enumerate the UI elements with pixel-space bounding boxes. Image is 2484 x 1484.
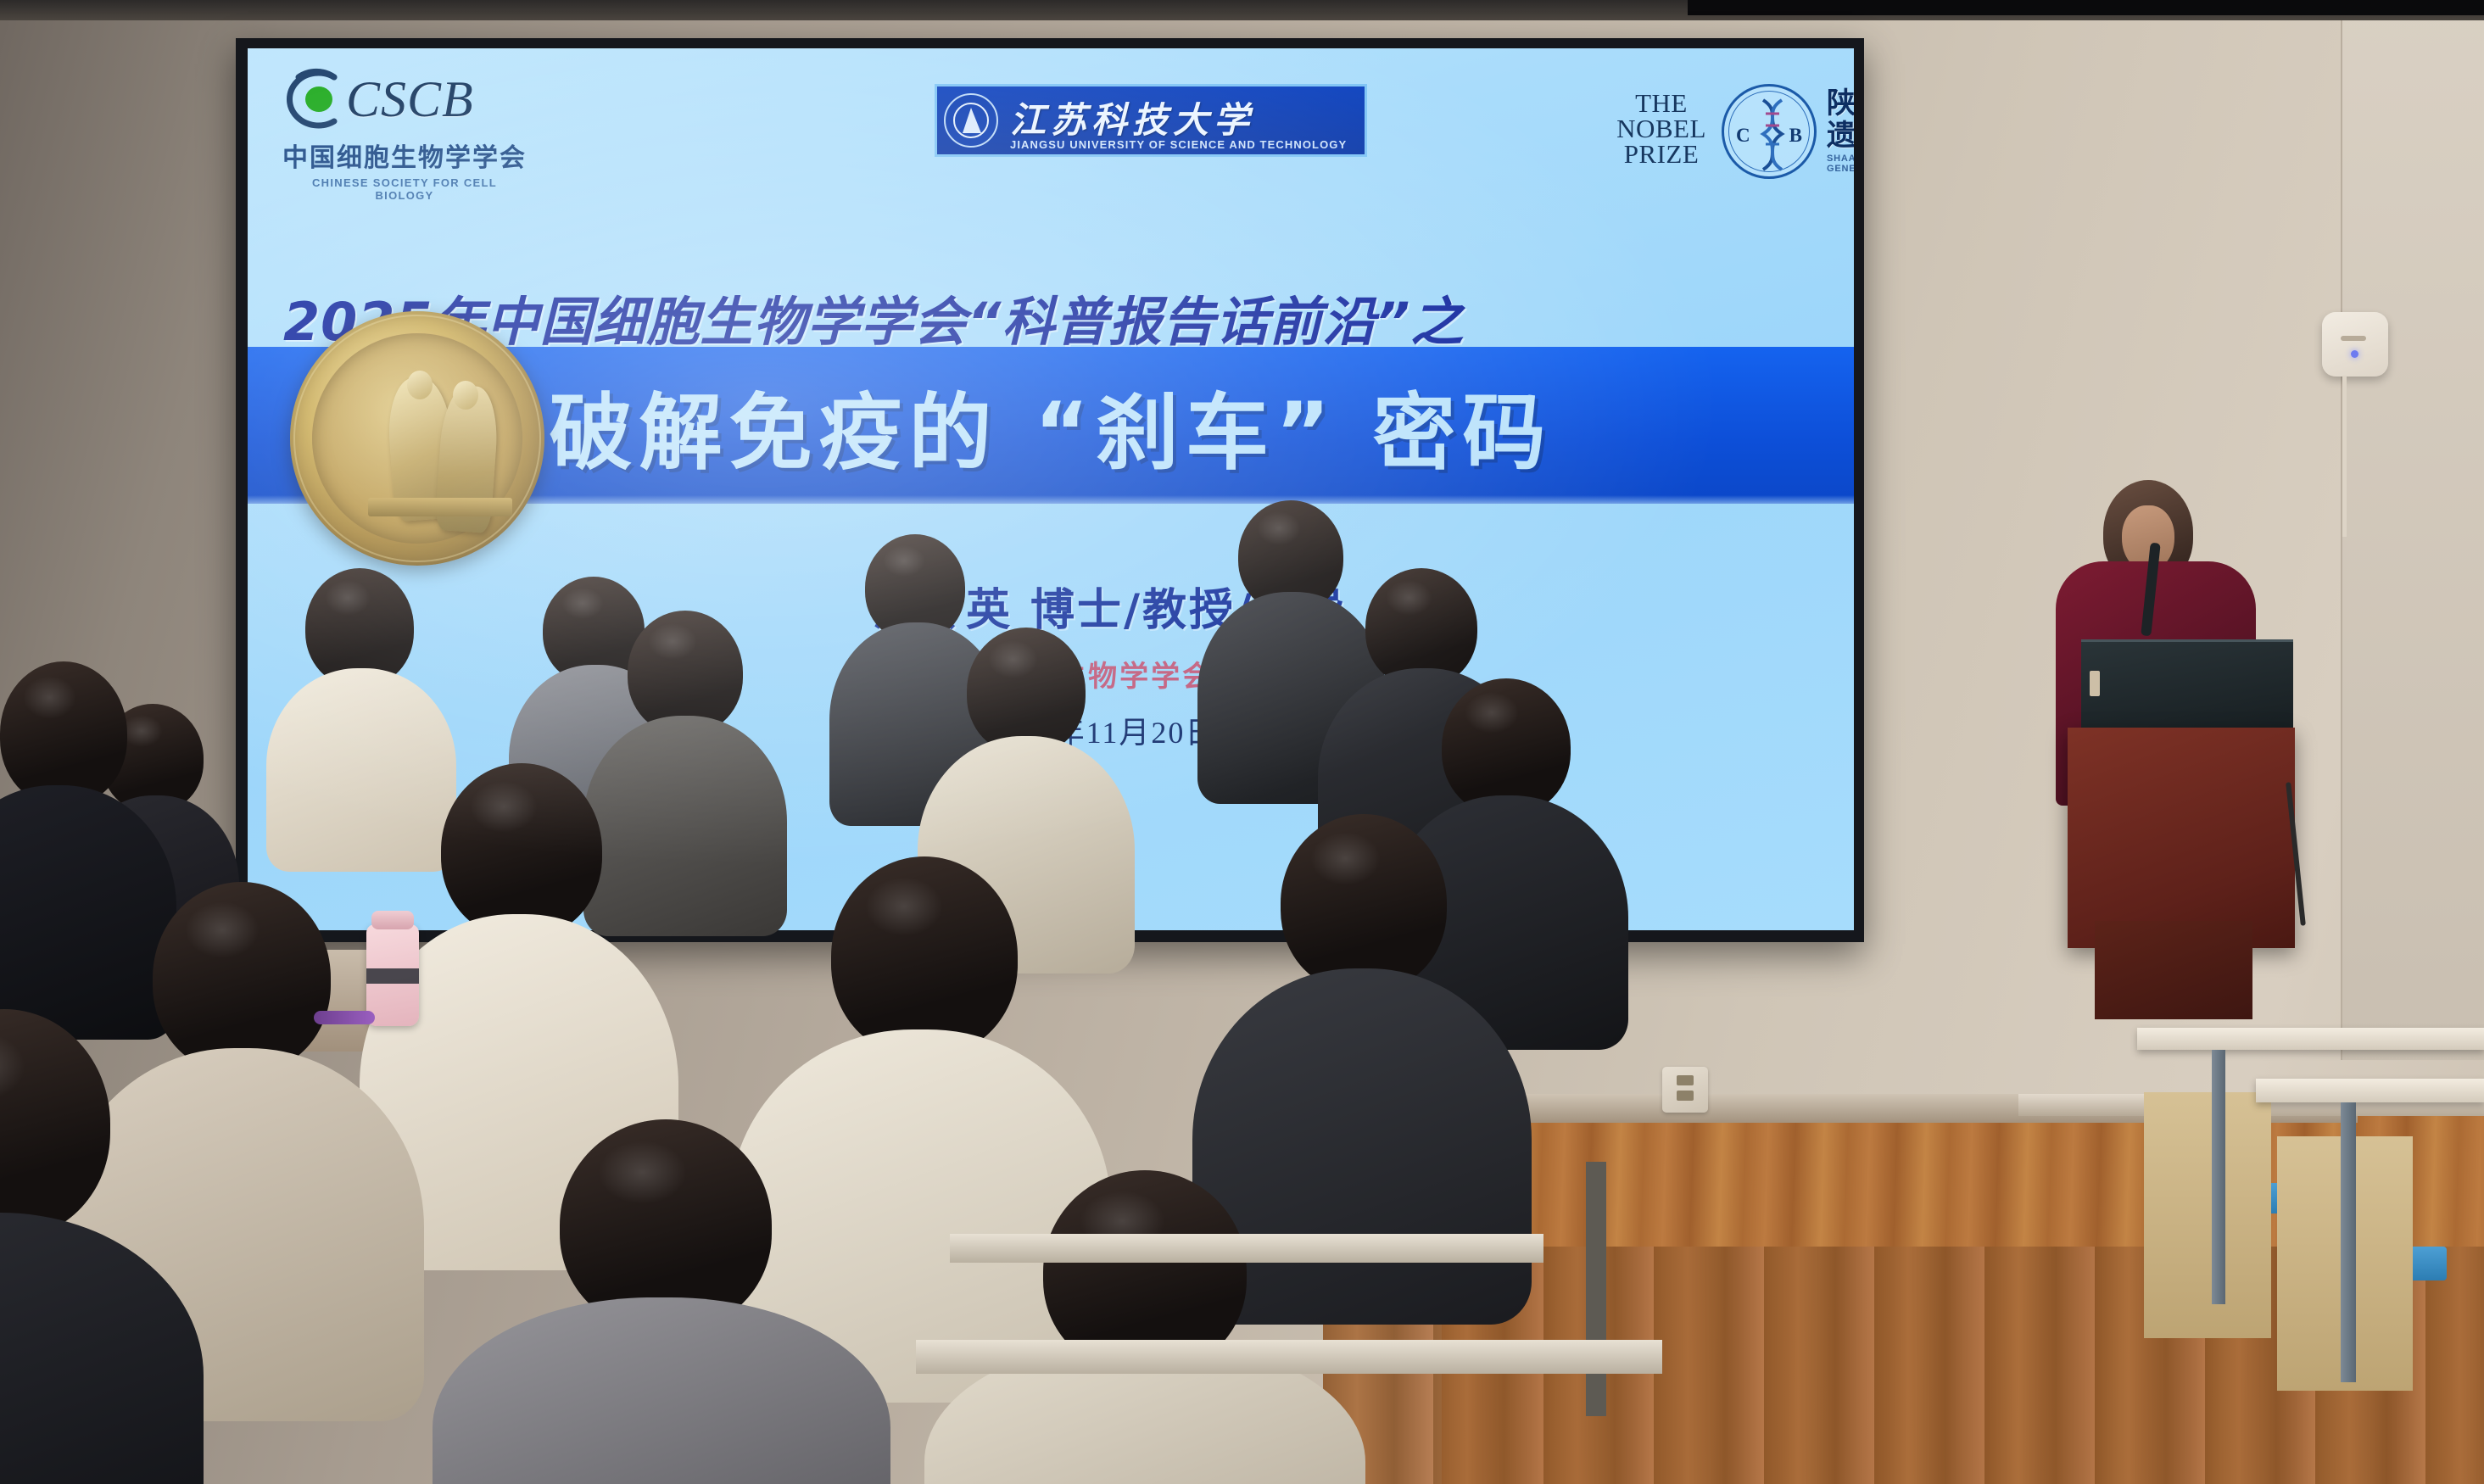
person-head: [831, 856, 1018, 1057]
hair-highlight: [0, 1032, 25, 1101]
wifi-cable: [2342, 376, 2347, 537]
person-head: [1281, 814, 1447, 992]
person-torso: [583, 716, 787, 936]
hair-highlight: [883, 545, 925, 577]
bottle-band: [366, 968, 419, 984]
wifi-access-point-icon: [2322, 312, 2388, 377]
bench-row-front: [916, 1340, 1662, 1374]
shaanxi-line-1: 陕西省: [1827, 87, 1854, 120]
medal-plinth: [368, 498, 512, 516]
person-torso: [266, 668, 456, 872]
pen: [314, 1011, 375, 1024]
person-head: [153, 882, 331, 1074]
hair-highlight: [1257, 511, 1301, 545]
tabletop-surface-front: [2256, 1079, 2484, 1102]
podium-base: [2095, 921, 2252, 1019]
hair-highlight: [1386, 580, 1432, 616]
dna-helix-icon: [1758, 98, 1787, 171]
hair-highlight: [1465, 692, 1519, 734]
medal-head-1: [407, 371, 433, 399]
shaanxi-genetics-logo: 陕西省 遗传学会 SHAANXI SOCIETY OF GENETICS: [1827, 87, 1854, 174]
laptop-port: [2090, 671, 2100, 696]
slide-title: 破解免疫的 “刹车” 密码: [549, 365, 1552, 486]
shaanxi-line-2: 遗传学会: [1827, 120, 1854, 152]
nobel-prize-wordmark: THE NOBEL PRIZE: [1598, 91, 1725, 167]
hair-highlight: [988, 640, 1038, 678]
hair-highlight: [648, 623, 696, 661]
podium: [2068, 728, 2295, 948]
nobel-medal-image: [290, 311, 544, 566]
cscb-mark: CSCB: [282, 64, 536, 135]
bench-leg-mid: [1586, 1162, 1606, 1416]
bottle-cap: [371, 911, 414, 929]
cscb-name-cn: 中国细胞生物学学会: [282, 137, 528, 174]
wifi-status-led: [2351, 350, 2358, 358]
hair-highlight: [865, 877, 943, 937]
hair-highlight: [1310, 832, 1380, 885]
cell-swirl-icon: [282, 67, 351, 131]
laptop: [2081, 639, 2293, 739]
slide-logo-row: CSCB 中国细胞生物学学会 CHINESE SOCIETY FOR CELL …: [248, 48, 1854, 201]
seal-letter-b: B: [1789, 125, 1802, 147]
table-top-front: [2256, 1079, 2484, 1102]
table-leg-rear-left: [2212, 1050, 2225, 1304]
person-head: [441, 763, 602, 938]
seal-letter-c: C: [1736, 125, 1750, 147]
hair-highlight: [598, 1141, 687, 1204]
jsust-seal-icon: [944, 93, 998, 148]
bench-row-mid: [950, 1234, 1543, 1263]
hair-highlight: [185, 901, 260, 959]
cscb-acronym: CSCB: [346, 70, 474, 129]
table-top-rear: [2137, 1028, 2484, 1050]
shaanxi-cell-biology-seal: C B: [1722, 84, 1817, 179]
jsust-name-cn: 江苏科技大学: [1010, 103, 1254, 138]
table-leg-front: [2341, 1102, 2356, 1382]
nobel-line-1: THE: [1598, 91, 1725, 116]
person-head: [0, 661, 127, 806]
hair-highlight: [23, 676, 76, 719]
cscb-name-en: CHINESE SOCIETY FOR CELL BIOLOGY: [282, 176, 528, 202]
water-bottle: [366, 924, 419, 1026]
medal-head-2: [453, 381, 478, 410]
hair-highlight: [470, 781, 538, 834]
nobel-line-3: PRIZE: [1598, 142, 1725, 167]
table-modesty-panel-rear: [2144, 1092, 2271, 1338]
ceiling-dark-panel: [1688, 0, 2484, 15]
right-wall-panel: [2341, 0, 2484, 1060]
jsust-name-en: JIANGSU UNIVERSITY OF SCIENCE AND TECHNO…: [1010, 138, 1347, 151]
wifi-vent-slot: [2341, 336, 2366, 341]
nobel-line-2: NOBEL: [1598, 116, 1725, 142]
shaanxi-name-en: SHAANXI SOCIETY OF GENETICS: [1827, 153, 1854, 174]
medal-inner-field: [312, 333, 522, 544]
hair-highlight: [325, 580, 371, 616]
sail-shape-icon: [963, 108, 981, 133]
hair-highlight: [561, 588, 604, 620]
speaker-name-titles: 潘传英 博士/教授/博导: [248, 574, 1854, 638]
jsust-logo-banner: 江苏科技大学 JIANGSU UNIVERSITY OF SCIENCE AND…: [935, 84, 1367, 157]
lecture-hall-scene: CSCB 中国细胞生物学学会 CHINESE SOCIETY FOR CELL …: [0, 0, 2484, 1484]
tabletop-surface: [2137, 1028, 2484, 1050]
cscb-logo: CSCB 中国细胞生物学学会 CHINESE SOCIETY FOR CELL …: [282, 64, 536, 202]
